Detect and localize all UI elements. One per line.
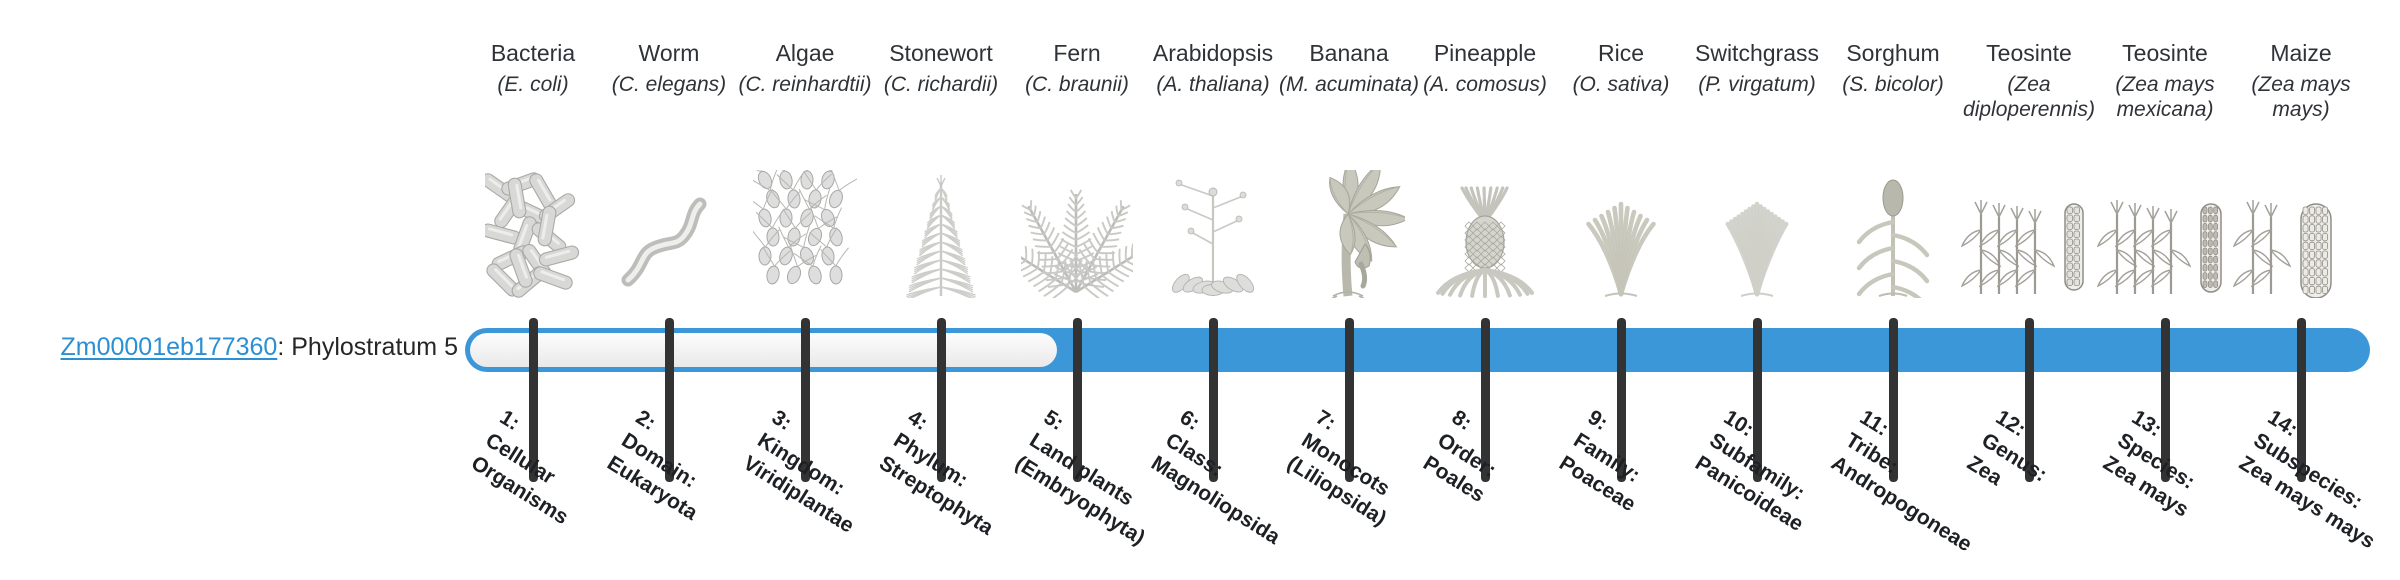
species-scientific-name: (A. comosus)	[1411, 72, 1559, 97]
phylostratum-figure: Zm00001eb177360: Phylostratum 5 Bacteria…	[0, 0, 2400, 580]
gene-id-link[interactable]: Zm00001eb177360	[60, 333, 277, 361]
species-common-name: Switchgrass	[1689, 40, 1825, 66]
species-column: Maize (Zea mays mays)	[2233, 0, 2369, 320]
maize-icon	[2233, 162, 2369, 298]
species-column: Fern (C. braunii)	[1009, 0, 1145, 320]
species-common-name: Teosinte	[2097, 40, 2233, 66]
stonewort-icon	[873, 162, 1009, 298]
species-column: Rice (O. sativa)	[1553, 0, 1689, 320]
species-common-name: Maize	[2233, 40, 2369, 66]
algae-icon	[737, 162, 873, 298]
species-column: Switchgrass (P. virgatum)	[1689, 0, 1825, 320]
teosinte-diploperennis-icon	[1961, 162, 2097, 298]
species-column: Teosinte (Zea mays mexicana)	[2097, 0, 2233, 320]
pineapple-icon	[1417, 162, 1553, 298]
bar-track-unfilled	[470, 333, 1057, 367]
switchgrass-icon	[1689, 162, 1825, 298]
species-column: Arabidopsis (A. thaliana)	[1145, 0, 1281, 320]
species-common-name: Rice	[1553, 40, 1689, 66]
species-column: Algae (C. reinhardtii)	[737, 0, 873, 320]
species-column: Bacteria (E. coli)	[465, 0, 601, 320]
species-scientific-name: (C. reinhardtii)	[731, 72, 879, 97]
rice-icon	[1553, 162, 1689, 298]
species-common-name: Fern	[1009, 40, 1145, 66]
gene-phylostratum-label: Zm00001eb177360: Phylostratum 5	[38, 332, 458, 362]
species-column: Stonewort (C. richardii)	[873, 0, 1009, 320]
species-scientific-name: (C. richardii)	[867, 72, 1015, 97]
species-scientific-name: (Zea mays mays)	[2227, 72, 2375, 122]
phylostratum-value: Phylostratum 5	[291, 333, 458, 361]
sorghum-icon	[1825, 162, 1961, 298]
species-common-name: Bacteria	[465, 40, 601, 66]
species-scientific-name: (C. braunii)	[1003, 72, 1151, 97]
fern-icon	[1009, 162, 1145, 298]
species-scientific-name: (A. thaliana)	[1139, 72, 1287, 97]
species-scientific-name: (S. bicolor)	[1819, 72, 1967, 97]
species-scientific-name: (P. virgatum)	[1683, 72, 1831, 97]
banana-icon	[1281, 162, 1417, 298]
species-column: Teosinte (Zea diploperennis)	[1961, 0, 2097, 320]
gene-label-separator: :	[277, 333, 291, 361]
species-scientific-name: (M. acuminata)	[1275, 72, 1423, 97]
species-common-name: Pineapple	[1417, 40, 1553, 66]
species-scientific-name: (Zea diploperennis)	[1955, 72, 2103, 122]
species-scientific-name: (O. sativa)	[1547, 72, 1695, 97]
teosinte-mexicana-icon	[2097, 162, 2233, 298]
species-common-name: Teosinte	[1961, 40, 2097, 66]
species-column: Worm (C. elegans)	[601, 0, 737, 320]
species-common-name: Arabidopsis	[1145, 40, 1281, 66]
species-scientific-name: (C. elegans)	[595, 72, 743, 97]
species-column: Pineapple (A. comosus)	[1417, 0, 1553, 320]
species-column: Banana (M. acuminata)	[1281, 0, 1417, 320]
species-scientific-name: (E. coli)	[459, 72, 607, 97]
phylostratum-bar[interactable]	[465, 328, 2370, 372]
worm-icon	[601, 162, 737, 298]
species-column: Sorghum (S. bicolor)	[1825, 0, 1961, 320]
species-common-name: Stonewort	[873, 40, 1009, 66]
species-scientific-name: (Zea mays mexicana)	[2091, 72, 2239, 122]
arabidopsis-icon	[1145, 162, 1281, 298]
species-common-name: Worm	[601, 40, 737, 66]
species-common-name: Banana	[1281, 40, 1417, 66]
species-common-name: Sorghum	[1825, 40, 1961, 66]
species-common-name: Algae	[737, 40, 873, 66]
bacteria-icon	[465, 162, 601, 298]
